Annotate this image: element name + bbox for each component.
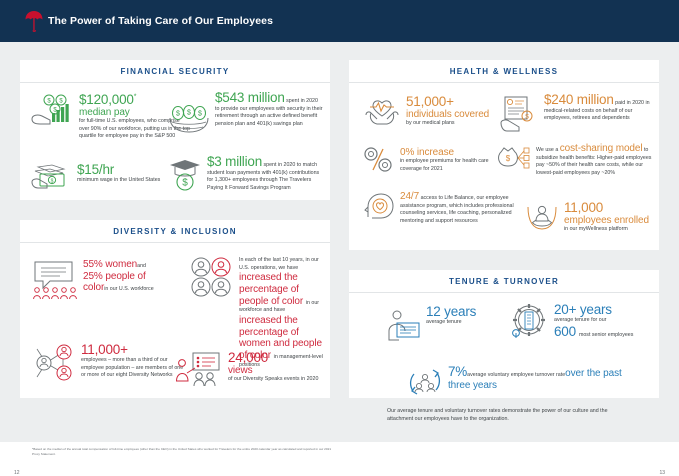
stat-representation-headline-1-tail: and [137,263,146,269]
stat-minimum-wage-text: $15/hr minimum wage in the United States [77,163,160,185]
stat-student-loan-match-text: $3 million spent in 2020 to match studen… [207,155,326,193]
stat-diversity-speaks-views: 24,000 views of our Diversity Speaks eve… [175,351,325,389]
head-with-heart-icon [363,191,395,223]
stat-senior-tenure-line-2: 600 most senior employees [554,325,633,340]
stat-representation-headline-3: color [83,282,104,293]
people-cycle-icon [407,365,443,399]
stat-premium-increase-headline: 0% increase [400,147,493,158]
svg-text:$: $ [187,110,191,117]
stat-minimum-wage: $ $15/hr minimum wage in the United Stat… [30,163,170,193]
svg-text:$: $ [506,154,511,163]
stat-diversity-speaks-views-headline: 24,000 [228,351,318,365]
stat-mywellness-enrolled-text: 11,000 employees enrolled in our myWelln… [564,201,649,234]
panel-body-financial-security: $ $ $ $120,000* median pay [20,83,330,201]
hand-with-cash-icon: $ [30,163,72,193]
stat-individuals-covered-text: 51,000+ individuals covered by our medic… [406,95,489,128]
nest-with-money-eggs-icon: $ $ $ [168,105,210,135]
stat-senior-tenure-headline-2: 600 [554,325,576,339]
panel-tenure-turnover: TENURE & TURNOVER 12 years [349,270,659,398]
stat-cost-sharing-model-text: We use a cost-sharing model to subsidize… [536,143,653,178]
stat-premium-increase-text: 0% increase in employee premiums for hea… [400,147,493,173]
stat-diversity-speaks-views-subhead: views [228,365,318,376]
meditating-person-icon [525,201,559,233]
stat-average-tenure: 12 years average tenure [385,305,505,343]
four-people-circles-icon [190,257,234,297]
stat-turnover-rate-body: average voluntary employee turnover rate [467,372,565,378]
svg-text:$: $ [198,111,202,118]
stat-minimum-wage-body: minimum wage in the United States [77,177,160,185]
employee-id-badge-icon [385,309,421,343]
stat-representation-headline-1: 55% women [83,259,137,270]
panel-body-tenure-turnover: 12 years average tenure [349,293,659,399]
stat-student-loan-match-headline: $3 million [207,154,262,169]
page-number-right: 13 [659,470,665,476]
stat-representation-line-1: 55% womenand [83,259,154,271]
stat-workforce-representation-text: 55% womenand 25% people of colorin our U… [83,259,154,294]
stat-life-balance: 24/7 access to Life Balance, our employe… [363,191,515,226]
stat-turnover-rate-headline: 7% [448,364,467,379]
stat-turnover-rate: 7%average voluntary employee turnover ra… [407,365,627,399]
stat-pension-spend-text: $543 million spent in 2020 to provide ou… [215,91,323,129]
stat-individuals-covered-headline: 51,000+ [406,95,489,109]
stat-diversity-speaks-views-text: 24,000 views of our Diversity Speaks eve… [228,351,318,384]
stat-cost-sharing-headline: cost-sharing model [560,143,643,154]
panel-title-diversity-inclusion: DIVERSITY & INCLUSION [20,220,330,243]
stat-life-balance-headline-tail: access to Life Balance, [421,195,475,201]
progress-part-0: In each of the last 10 years, in our U.S… [239,257,319,271]
stat-mywellness-enrolled-subhead: employees enrolled [564,215,649,226]
stat-mywellness-enrolled: 11,000 employees enrolled in our myWelln… [525,201,655,234]
stat-pension-spend-headline: $543 million [215,90,285,105]
stat-mywellness-enrolled-body: in our myWellness platform [564,226,649,234]
stat-medical-costs-paid-text: $240 million paid in 2020 in medical-rel… [544,93,651,123]
stat-diversity-networks: 11,000+ employees – more than a third of… [32,343,187,383]
stat-senior-tenure: 20+ years average tenure for our 600 mos… [509,303,654,341]
graduation-cap-coin-icon: $ [168,157,202,191]
panel-health-wellness: HEALTH & WELLNESS 51,000+ individuals co… [349,60,659,250]
stat-individuals-covered-body: by our medical plans [406,120,489,128]
stat-student-loan-match: $ $3 million spent in 2020 to match stud… [168,155,326,193]
panel-diversity-inclusion: DIVERSITY & INCLUSION [20,220,330,398]
stat-mywellness-enrolled-headline: 11,000 [564,201,649,215]
page-canvas: FINANCIAL SECURITY $ $ $ [0,42,679,442]
stat-life-balance-text: 24/7 access to Life Balance, our employe… [400,191,515,226]
money-bag-network-icon: $ [491,146,531,178]
stat-diversity-networks-text: 11,000+ employees – more than a third of… [81,343,187,380]
stat-premium-increase-body: in employee premiums for health care cov… [400,158,493,173]
footnote-marker: * [134,94,137,101]
stat-minimum-wage-headline: $15/hr [77,163,160,177]
footnote-text: *Based on the median of the annual total… [32,447,332,456]
stat-median-pay: $ $ $ $120,000* median pay [30,93,190,141]
panel-body-health-wellness: 51,000+ individuals covered by our medic… [349,83,659,251]
page-number-left: 12 [14,470,20,476]
svg-text:$: $ [59,99,63,105]
svg-text:$: $ [182,178,188,189]
presenter-audience-icon [175,351,223,389]
stat-individuals-covered-subhead: individuals covered [406,109,489,120]
stat-cost-sharing-lead: We use a [536,147,558,153]
svg-text:$: $ [47,99,51,105]
stat-cost-sharing-model: $ We use a cost-sharing model to subsidi… [491,143,653,178]
gear-building-icon [509,303,549,341]
stat-premium-increase: 0% increase in employee premiums for hea… [363,147,493,173]
panel-financial-security: FINANCIAL SECURITY $ $ $ [20,60,330,200]
stat-representation-headline-2: 25% people of [83,271,154,282]
svg-text:$: $ [51,178,54,184]
hand-with-coins-bar-chart-icon: $ $ $ [30,93,74,131]
stat-representation-headline-3-tail: in our U.S. workforce [104,286,153,292]
stat-average-tenure-text: 12 years average tenure [426,305,476,327]
stat-medical-costs-paid: $ $240 million paid in 2020 in medical-r… [499,93,651,133]
stat-turnover-rate-text: 7%average voluntary employee turnover ra… [448,365,627,391]
stat-individuals-covered: 51,000+ individuals covered by our medic… [363,95,503,128]
page-title: The Power of Taking Care of Our Employee… [48,15,273,27]
panel-title-financial-security: FINANCIAL SECURITY [20,60,330,83]
stat-average-tenure-subhead: average tenure [426,319,476,327]
speech-bubble-people-icon [32,259,78,301]
panel-title-health-wellness: HEALTH & WELLNESS [349,60,659,83]
stat-workforce-representation: 55% womenand 25% people of colorin our U… [32,259,187,301]
progress-part-1: increased the percentage of people of co… [239,272,306,306]
svg-text:$: $ [525,114,529,121]
panel-body-diversity-inclusion: 55% womenand 25% people of colorin our U… [20,243,330,399]
page-header: The Power of Taking Care of Our Employee… [0,0,679,42]
svg-text:$: $ [176,111,180,118]
stat-senior-tenure-body-2: most senior employees [579,332,633,340]
panel-title-tenure-turnover: TENURE & TURNOVER [349,270,659,293]
hand-holding-medical-bill-icon: $ [499,95,539,133]
stat-diversity-networks-body: employees – more than a third of our emp… [81,357,187,380]
stat-average-tenure-headline: 12 years [426,305,476,319]
hands-holding-heart-icon [363,95,401,127]
tenure-closing-statement: Our average tenure and voluntary turnove… [387,408,627,423]
stat-diversity-speaks-views-body: of our Diversity Speaks events in 2020 [228,376,318,384]
percent-sign-icon [363,147,395,173]
stat-medical-costs-paid-headline: $240 million [544,92,614,107]
stat-life-balance-headline: 24/7 [400,191,419,202]
stat-representation-line-3: colorin our U.S. workforce [83,282,154,294]
stat-diversity-networks-headline: 11,000+ [81,343,187,357]
stat-senior-tenure-headline: 20+ years [554,303,633,317]
travelers-umbrella-logo-icon [24,10,44,32]
diversity-network-icon [32,343,76,383]
stat-pension-spend: $ $ $ $543 million spent in 2020 to prov… [168,91,323,135]
stat-senior-tenure-text: 20+ years average tenure for our 600 mos… [554,303,633,339]
